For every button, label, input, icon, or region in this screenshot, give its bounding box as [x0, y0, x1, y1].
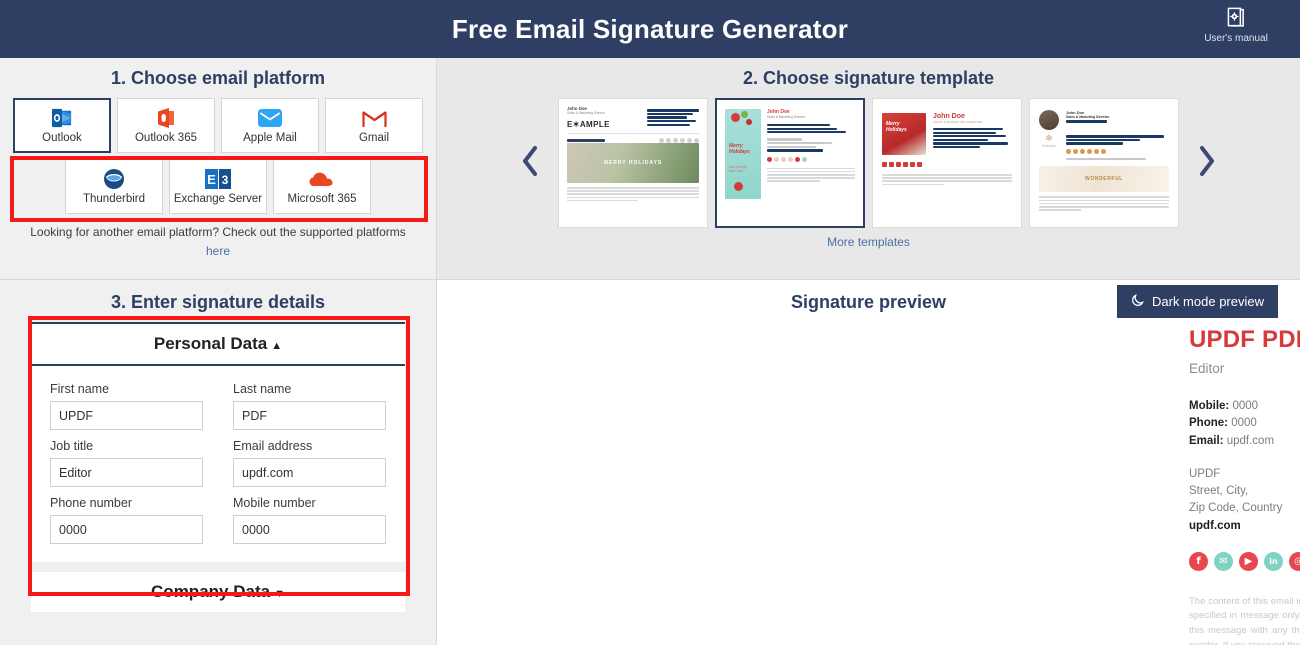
template-thumb-title: Sales & Marketing Director	[767, 115, 855, 119]
template-thumb-2: MerryHolidays and a HappyNew Year John D…	[717, 100, 863, 208]
signature-phone-row: Phone: 0000	[1189, 415, 1300, 432]
templates-step-title: 2. Choose signature template	[437, 68, 1300, 89]
field-first-name: First name	[50, 382, 203, 430]
exchange-server-icon: E 3	[205, 168, 231, 190]
platform-tile-label: Thunderbird	[83, 193, 145, 205]
job-title-input[interactable]	[50, 458, 203, 487]
company-data-header[interactable]: Company Data▼	[31, 572, 405, 612]
platform-tile-label: Exchange Server	[174, 193, 262, 205]
signature-mobile-label: Mobile:	[1189, 400, 1229, 412]
field-label: Mobile number	[233, 496, 386, 510]
supported-platforms-link[interactable]: here	[206, 244, 230, 258]
company-data-heading: Company Data	[151, 582, 270, 601]
signature-mobile-value: 0000	[1232, 400, 1258, 412]
signature-job-title: Editor	[1189, 361, 1300, 376]
more-templates-link[interactable]: More templates	[437, 235, 1300, 249]
right-column: 2. Choose signature template John Doe	[437, 58, 1300, 645]
platform-tile-outlook[interactable]: Outlook	[13, 98, 111, 153]
template-card-4[interactable]: John Doe Sales & Marketing Director ❄ Ex…	[1029, 98, 1179, 228]
email-address-input[interactable]	[233, 458, 386, 487]
instagram-icon[interactable]: ◎	[1289, 552, 1300, 571]
template-thumb-4: John Doe Sales & Marketing Director ❄ Ex…	[1030, 99, 1178, 223]
template-thumb-title: SALES & MARKETING DIRECTOR	[933, 120, 1012, 124]
signature-phone-label: Phone:	[1189, 417, 1228, 429]
platform-tile-apple-mail[interactable]: Apple Mail	[221, 98, 319, 153]
template-thumb-brand: E✶AMPLE	[567, 120, 610, 129]
details-panel: 3. Enter signature details Personal Data…	[0, 279, 437, 645]
last-name-input[interactable]	[233, 401, 386, 430]
facebook-icon[interactable]: f	[1189, 552, 1208, 571]
template-thumb-banner: MERRY HOLIDAYS	[567, 143, 699, 183]
details-step-title: 3. Enter signature details	[0, 292, 436, 313]
signature-website: updf.com	[1189, 518, 1300, 535]
outlook-icon	[51, 107, 73, 129]
signature-social-links: f ✉ ▶ in ◎ P	[1189, 552, 1300, 571]
chevron-down-icon: ▼	[274, 588, 285, 600]
signature-company: UPDF	[1189, 466, 1300, 483]
app-header: Free Email Signature Generator User's ma…	[0, 0, 1300, 58]
phone-number-input[interactable]	[50, 515, 203, 544]
apple-mail-icon	[258, 107, 282, 129]
signature-address-line2: Zip Code, Country	[1189, 500, 1300, 517]
platform-tile-thunderbird[interactable]: Thunderbird	[65, 159, 163, 214]
template-carousel: John Doe Sales & Marketing Director E✶AM…	[437, 98, 1300, 228]
field-label: Job title	[50, 439, 203, 453]
twitter-icon[interactable]: ✉	[1214, 552, 1233, 571]
signature-disclaimer: The content of this email is confidentia…	[1189, 595, 1300, 645]
templates-panel: 2. Choose signature template John Doe	[437, 58, 1300, 279]
signature-mobile-row: Mobile: 0000	[1189, 398, 1300, 415]
signature-email-label: Email:	[1189, 435, 1224, 447]
platform-tiles-row-2: Thunderbird E 3 Exchange Server	[0, 159, 436, 214]
field-email-address: Email address	[233, 439, 386, 487]
first-name-input[interactable]	[50, 401, 203, 430]
field-label: First name	[50, 382, 203, 396]
signature-name: UPDF PDF	[1189, 326, 1300, 354]
users-manual-label: User's manual	[1204, 33, 1268, 44]
platform-panel: 1. Choose email platform Ou	[0, 58, 437, 279]
template-card-2[interactable]: MerryHolidays and a HappyNew Year John D…	[715, 98, 865, 228]
dark-mode-preview-button[interactable]: Dark mode preview	[1117, 285, 1278, 318]
moon-icon	[1131, 293, 1145, 310]
signature-address-block: UPDF Street, City, Zip Code, Country upd…	[1189, 466, 1300, 535]
left-column: 1. Choose email platform Ou	[0, 58, 437, 645]
template-thumb-1: John Doe Sales & Marketing Director E✶AM…	[559, 99, 707, 210]
field-label: Last name	[233, 382, 386, 396]
microsoft365-icon	[309, 168, 335, 190]
page-body: 1. Choose email platform Ou	[0, 58, 1300, 645]
template-thumb-3: MerryHolidays John Doe SALES & MARKETING…	[873, 99, 1021, 201]
carousel-prev-button[interactable]	[509, 133, 551, 193]
platform-step-title: 1. Choose email platform	[0, 68, 436, 89]
company-data-accordion: Company Data▼	[31, 572, 405, 612]
gmail-icon	[362, 107, 387, 129]
personal-data-header[interactable]: Personal Data▲	[31, 322, 405, 366]
personal-data-heading: Personal Data	[154, 334, 267, 353]
field-job-title: Job title	[50, 439, 203, 487]
chevron-left-icon	[518, 144, 542, 183]
dark-mode-preview-label: Dark mode preview	[1152, 294, 1264, 309]
platform-note-text: Looking for another email platform? Chec…	[30, 225, 406, 239]
signature-address-line1: Street, City,	[1189, 483, 1300, 500]
template-card-3[interactable]: MerryHolidays John Doe SALES & MARKETING…	[872, 98, 1022, 228]
platform-tile-exchange-server[interactable]: E 3 Exchange Server	[169, 159, 267, 214]
platform-tile-label: Gmail	[359, 132, 389, 144]
platform-tile-microsoft-365[interactable]: Microsoft 365	[273, 159, 371, 214]
svg-text:E: E	[207, 172, 216, 187]
personal-data-accordion: Personal Data▲ First name Last name Job …	[31, 322, 405, 562]
chevron-up-icon: ▲	[271, 340, 282, 352]
platform-tile-label: Outlook 365	[135, 132, 197, 144]
field-last-name: Last name	[233, 382, 386, 430]
platform-tile-label: Outlook	[42, 132, 82, 144]
preview-panel: Signature preview Dark mode preview UPDF…	[437, 279, 1300, 645]
field-label: Phone number	[50, 496, 203, 510]
platform-tiles-row-1: Outlook Outlook 365	[0, 98, 436, 153]
template-thumb-title: Sales & Marketing Director	[567, 111, 610, 115]
template-thumb-title: Sales & Marketing Director	[1066, 115, 1169, 119]
personal-data-fields: First name Last name Job title Email add…	[31, 366, 405, 562]
signature-email-row: Email: updf.com	[1189, 433, 1300, 450]
field-phone-number: Phone number	[50, 496, 203, 544]
template-thumb-banner: WONDERFUL	[1039, 166, 1169, 192]
platform-tile-outlook-365[interactable]: Outlook 365	[117, 98, 215, 153]
platform-tile-gmail[interactable]: Gmail	[325, 98, 423, 153]
template-card-1[interactable]: John Doe Sales & Marketing Director E✶AM…	[558, 98, 708, 228]
thunderbird-icon	[103, 168, 125, 190]
platform-tile-label: Microsoft 365	[287, 193, 356, 205]
platform-note: Looking for another email platform? Chec…	[0, 223, 436, 260]
page-title: Free Email Signature Generator	[452, 14, 848, 45]
linkedin-icon[interactable]: in	[1264, 552, 1283, 571]
field-label: Email address	[233, 439, 386, 453]
signature-phone-value: 0000	[1231, 417, 1257, 429]
svg-text:3: 3	[222, 173, 229, 187]
platform-tile-label: Apple Mail	[243, 132, 297, 144]
carousel-next-button[interactable]	[1186, 133, 1228, 193]
mobile-number-input[interactable]	[233, 515, 386, 544]
users-manual-button[interactable]: User's manual	[1190, 4, 1282, 44]
outlook365-icon	[156, 107, 176, 129]
field-mobile-number: Mobile number	[233, 496, 386, 544]
template-thumb-name: John Doe	[933, 113, 1012, 120]
signature-contact-block: Mobile: 0000 Phone: 0000 Email: updf.com	[1189, 398, 1300, 450]
book-gear-icon	[1223, 4, 1249, 30]
chevron-right-icon	[1195, 144, 1219, 183]
signature-preview: UPDF PDF Editor Mobile: 0000 Phone: 0000…	[1189, 326, 1300, 645]
template-thumb-brand: Example	[1039, 144, 1059, 148]
youtube-icon[interactable]: ▶	[1239, 552, 1258, 571]
signature-email-value: updf.com	[1227, 435, 1274, 447]
